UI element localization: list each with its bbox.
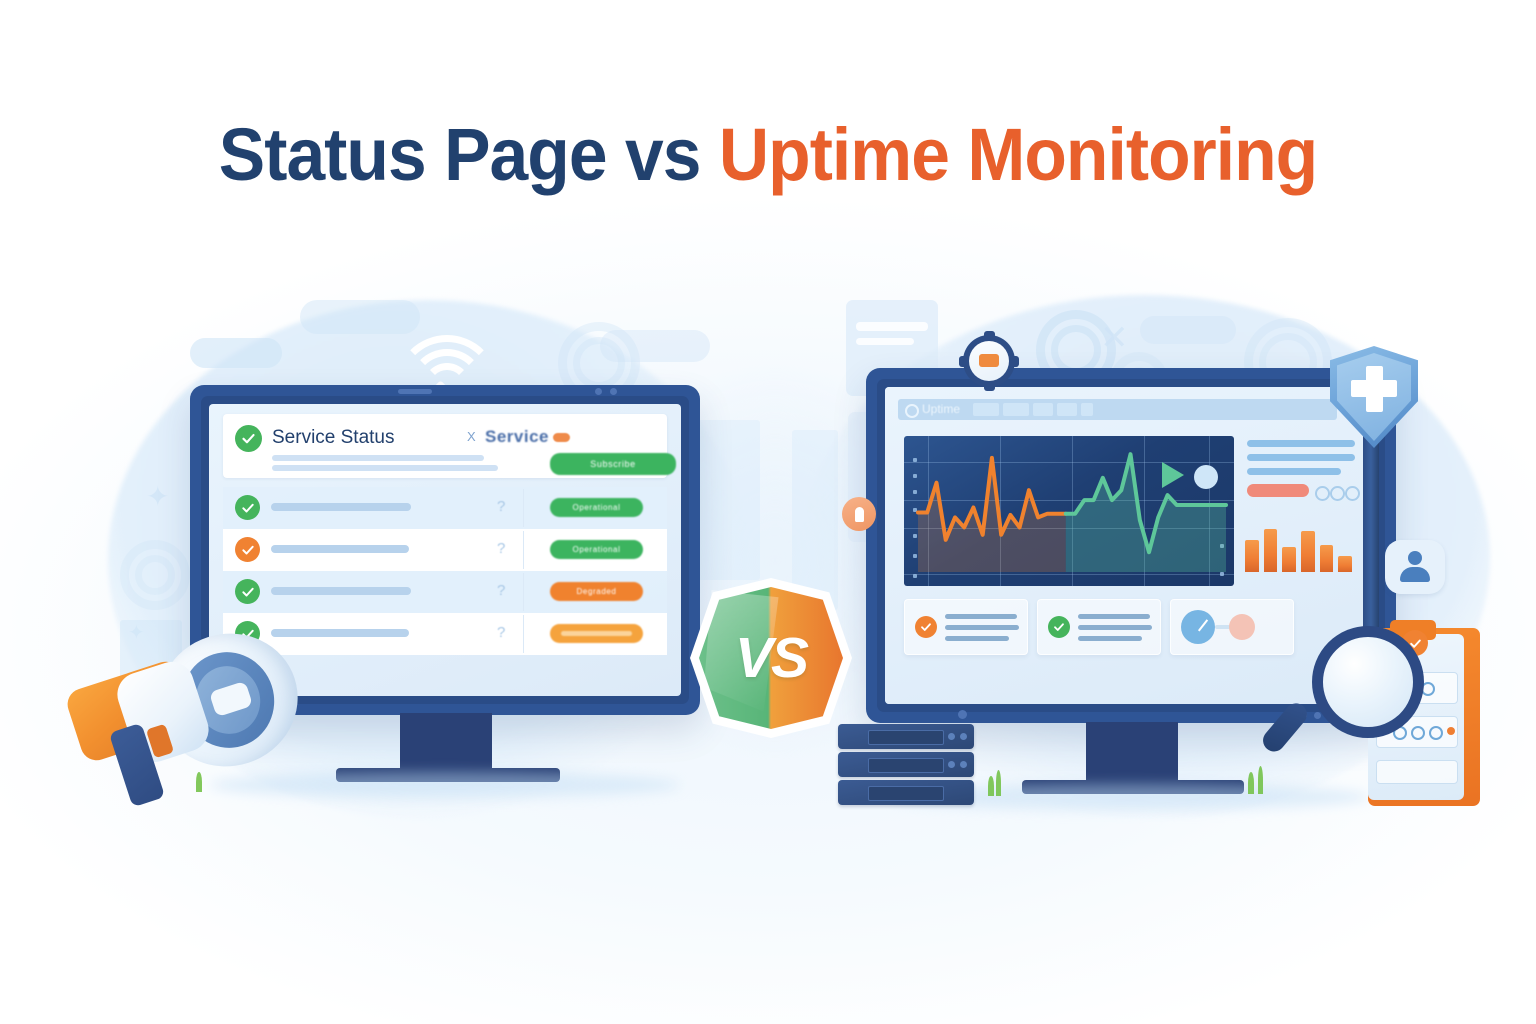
gauge-icon bbox=[1181, 610, 1215, 644]
metric-card[interactable] bbox=[904, 599, 1028, 655]
sidebar-bar-chart bbox=[1245, 510, 1357, 572]
vs-badge: VS bbox=[690, 578, 852, 738]
check-icon bbox=[241, 431, 256, 446]
row-status-badge: Operational bbox=[550, 540, 643, 559]
row-status-icon bbox=[235, 495, 260, 520]
sidebar-line-2 bbox=[1247, 454, 1355, 461]
server-stack-icon bbox=[838, 724, 978, 808]
card-line-3 bbox=[1078, 636, 1142, 641]
topbar-block-3 bbox=[1033, 403, 1053, 416]
gauge-knob bbox=[1229, 614, 1255, 640]
check-icon bbox=[241, 543, 255, 557]
check-icon bbox=[241, 501, 255, 515]
row-divider bbox=[523, 615, 524, 653]
page-title: Status Page vs Uptime Monitoring bbox=[46, 118, 1490, 192]
bar bbox=[1245, 540, 1259, 572]
illustration-canvas: Status Page vs Uptime Monitoring ✦ ★ ✦ ✕ bbox=[0, 0, 1536, 1024]
header-status-icon bbox=[235, 425, 262, 452]
row-status-badge: Degraded bbox=[550, 582, 643, 601]
check-icon bbox=[920, 621, 932, 633]
vs-badge-label: VS bbox=[690, 578, 852, 738]
card-line-2 bbox=[945, 625, 1019, 630]
user-head bbox=[1408, 551, 1422, 565]
sidebar-circle-1 bbox=[1315, 486, 1330, 501]
megaphone-icon bbox=[62, 628, 322, 813]
gear-center-mark bbox=[979, 354, 999, 367]
bar bbox=[1301, 531, 1315, 572]
card-status-icon bbox=[1048, 616, 1070, 638]
lock-icon bbox=[842, 497, 876, 531]
camera-dot-right-1 bbox=[958, 710, 967, 719]
server-led bbox=[948, 761, 955, 768]
bar bbox=[1264, 529, 1278, 572]
response-time-chart bbox=[904, 436, 1234, 586]
check-icon bbox=[1053, 621, 1065, 633]
server-led bbox=[948, 733, 955, 740]
chart-dot-marker bbox=[1194, 465, 1218, 489]
cross-icon-horizontal bbox=[1351, 380, 1397, 397]
server-unit bbox=[838, 780, 974, 805]
row-status-badge bbox=[550, 624, 643, 643]
card-line-2 bbox=[1078, 625, 1152, 630]
grass-decor-3 bbox=[1248, 772, 1254, 794]
server-slot bbox=[868, 758, 944, 773]
check-icon bbox=[241, 585, 255, 599]
topbar-title: Uptime bbox=[922, 402, 960, 416]
gauge-needle bbox=[1198, 620, 1208, 632]
cross-decor-right: ✕ bbox=[1100, 318, 1129, 358]
server-unit bbox=[838, 752, 974, 777]
camera-dot-left-2 bbox=[595, 388, 602, 395]
magnifier-icon bbox=[1290, 620, 1420, 760]
row-divider bbox=[523, 489, 524, 527]
clipboard-status-dot bbox=[1447, 727, 1455, 735]
camera-dot-left-1 bbox=[398, 389, 432, 394]
topbar-block-5 bbox=[1081, 403, 1093, 416]
chart-series-layer bbox=[904, 436, 1234, 586]
shield-health-icon bbox=[1330, 346, 1418, 448]
row-meta-glyph: ? bbox=[497, 540, 505, 557]
table-row[interactable]: ? Operational bbox=[223, 529, 667, 571]
gear-icon bbox=[963, 335, 1015, 387]
page-title-accent: Uptime Monitoring bbox=[719, 113, 1317, 196]
row-label-bar bbox=[271, 545, 409, 553]
header-text-bar-2 bbox=[272, 465, 498, 471]
doc-line-decor-2 bbox=[856, 338, 914, 345]
grass-decor-2 bbox=[996, 770, 1001, 796]
row-divider bbox=[523, 531, 524, 569]
brand-logo-text: Service bbox=[485, 427, 549, 447]
bar bbox=[1338, 556, 1352, 572]
brand-logo-dot bbox=[553, 433, 570, 442]
gauge-card[interactable] bbox=[1170, 599, 1294, 655]
server-slot bbox=[868, 786, 944, 801]
row-divider bbox=[523, 573, 524, 611]
user-icon bbox=[1385, 540, 1445, 594]
sidebar-alert-pill bbox=[1247, 484, 1309, 497]
cloud-decor-1 bbox=[190, 338, 282, 368]
table-row[interactable]: ? Degraded bbox=[223, 571, 667, 613]
monitor-stand-neck-right bbox=[1086, 722, 1178, 784]
doc-line-decor-1 bbox=[856, 322, 928, 331]
server-slot bbox=[868, 730, 944, 745]
sidebar-circle-3 bbox=[1345, 486, 1360, 501]
topbar-block-2 bbox=[1003, 403, 1029, 416]
status-page-header-card: Service Status X Service Subscribe bbox=[223, 414, 667, 478]
monitor-stand-neck-left bbox=[400, 713, 492, 771]
table-row[interactable]: ? Operational bbox=[223, 487, 667, 529]
row-meta-glyph: ? bbox=[497, 498, 505, 515]
row-status-icon bbox=[235, 579, 260, 604]
star-decor-1: ✦ bbox=[146, 480, 169, 513]
sidebar-circle-2 bbox=[1330, 486, 1345, 501]
row-status-icon bbox=[235, 537, 260, 562]
server-led bbox=[960, 733, 967, 740]
clipboard-row bbox=[1376, 760, 1458, 784]
bar bbox=[1282, 547, 1296, 572]
topbar-logo-icon bbox=[905, 404, 919, 418]
metric-card[interactable] bbox=[1037, 599, 1161, 655]
row-label-bar bbox=[271, 503, 411, 511]
row-meta-glyph: ? bbox=[497, 624, 505, 641]
row-status-badge: Operational bbox=[550, 498, 643, 517]
cloud-decor-4 bbox=[1140, 316, 1236, 344]
card-line-3 bbox=[945, 636, 1009, 641]
play-triangle-marker bbox=[1162, 462, 1184, 488]
gear-decor-left-2 bbox=[120, 540, 190, 610]
camera-dot-left-3 bbox=[610, 388, 617, 395]
server-unit bbox=[838, 724, 974, 749]
grass-decor-4 bbox=[1258, 766, 1263, 794]
cloud-decor-2 bbox=[300, 300, 420, 334]
row-meta-glyph: ? bbox=[497, 582, 505, 599]
magnifier-lens bbox=[1312, 626, 1424, 738]
badge-inner-bar bbox=[561, 631, 632, 636]
logo-x-mark: X bbox=[467, 429, 476, 444]
grass-decor-1 bbox=[988, 776, 994, 796]
sidebar-line-3 bbox=[1247, 468, 1341, 475]
bar bbox=[1320, 545, 1334, 572]
dashboard-topbar: Uptime bbox=[898, 399, 1337, 420]
keyhole-shape bbox=[855, 507, 864, 522]
status-page-title: Service Status bbox=[272, 427, 395, 449]
card-status-icon bbox=[915, 616, 937, 638]
subscribe-button[interactable]: Subscribe bbox=[550, 453, 676, 475]
user-body bbox=[1400, 567, 1430, 582]
clipboard-circle bbox=[1429, 726, 1443, 740]
header-text-bar-1 bbox=[272, 455, 484, 461]
topbar-block-1 bbox=[973, 403, 999, 416]
topbar-block-4 bbox=[1057, 403, 1077, 416]
row-label-bar bbox=[271, 587, 411, 595]
server-led bbox=[960, 761, 967, 768]
card-line-1 bbox=[1078, 614, 1150, 619]
card-line-1 bbox=[945, 614, 1017, 619]
page-title-primary: Status Page vs bbox=[219, 113, 719, 196]
